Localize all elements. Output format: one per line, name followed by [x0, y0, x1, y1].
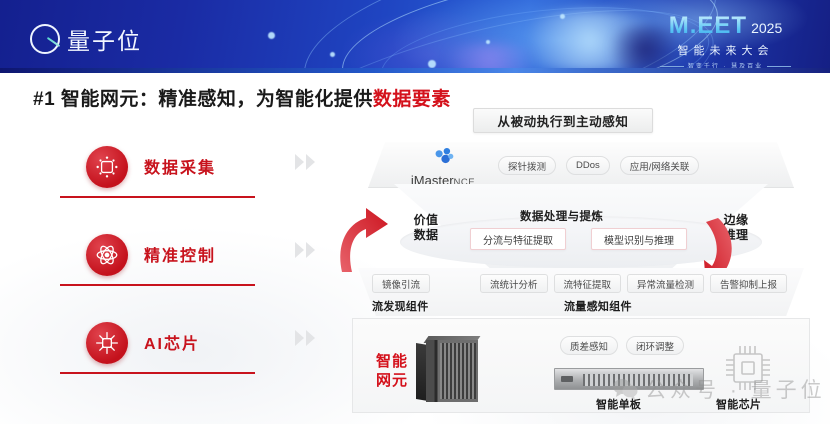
- group-label-flow-discovery: 流发现组件: [372, 298, 429, 314]
- banner-dot: [560, 14, 565, 19]
- banner-dot: [330, 52, 335, 57]
- bottom-pill-row: 质差感知 闭环调整: [560, 336, 684, 355]
- pill-ddos[interactable]: DDos: [566, 156, 610, 175]
- curved-arrow-up-icon: [332, 202, 394, 274]
- pill-alarm-suppression-report[interactable]: 告警抑制上报: [710, 274, 787, 293]
- double-chevron-right-icon: [293, 152, 319, 172]
- double-chevron-right-icon: [293, 328, 319, 348]
- banner-dot: [268, 32, 275, 39]
- event-year: 2025: [751, 20, 782, 36]
- left-item-ai-chip[interactable]: AI芯片: [60, 316, 310, 404]
- left-item-underline: [60, 196, 255, 198]
- architecture-diagram: 从被动执行到主动感知 iMasterNCE 探针拨测 DDos 应用/网络关联 …: [348, 108, 814, 413]
- banner-glow: [430, 44, 550, 73]
- pill-quality-degradation-awareness[interactable]: 质差感知: [560, 336, 618, 355]
- banner-dot: [486, 40, 490, 44]
- brand-name: 量子位: [67, 22, 142, 56]
- wechat-icon: [612, 378, 638, 400]
- label-intelligent-network-element: 智能 网元: [376, 352, 408, 390]
- event-subtitle: 智能未来大会: [643, 42, 808, 58]
- left-item-underline: [60, 284, 255, 286]
- event-word: M.EET: [669, 12, 747, 40]
- label-value-data-line2: 数据: [406, 228, 446, 243]
- watermark-text: 公众号 · 量子位: [645, 374, 826, 404]
- pill-closed-loop-adjustment[interactable]: 闭环调整: [626, 336, 684, 355]
- label-value-data-line1: 价值: [406, 213, 446, 228]
- imaster-pinwheel-icon: [430, 146, 456, 168]
- diagram-banner: 从被动执行到主动感知: [473, 108, 653, 133]
- event-tagline: 智变千行 · 慧及百业: [688, 64, 763, 70]
- watermark: 公众号 · 量子位: [612, 374, 826, 404]
- section-title-data-processing: 数据处理与提炼: [520, 208, 603, 224]
- left-item-precise-control[interactable]: 精准控制: [60, 228, 310, 316]
- pill-abnormal-traffic-detection[interactable]: 异常流量检测: [627, 274, 704, 293]
- pill-probe-test[interactable]: 探针拨测: [498, 156, 556, 175]
- label-value-data: 价值 数据: [406, 213, 446, 243]
- left-item-label: 数据采集: [144, 154, 216, 178]
- box-model-recognition-inference[interactable]: 模型识别与推理: [591, 228, 687, 250]
- page-title: #1 智能网元：精准感知，为智能化提供数据要素: [33, 84, 451, 111]
- pill-flow-feature-extraction[interactable]: 流特征提取: [554, 274, 622, 293]
- page-title-highlight: 数据要素: [373, 89, 451, 110]
- double-chevron-right-icon: [293, 240, 319, 260]
- imaster-nce-logo: iMasterNCE: [394, 146, 492, 188]
- pill-mirror-traffic[interactable]: 镜像引流: [372, 274, 430, 293]
- flow-discovery-pill-row: 镜像引流: [372, 274, 430, 293]
- atom-icon: [86, 234, 128, 276]
- label-ne-line1: 智能: [376, 352, 408, 371]
- label-ne-line2: 网元: [376, 371, 408, 390]
- server-chassis-icon: [416, 340, 478, 402]
- chip-dots-icon: [86, 146, 128, 188]
- chip-burst-icon: [86, 322, 128, 364]
- pill-flow-statistics[interactable]: 流统计分析: [480, 274, 548, 293]
- banner-dot: [428, 60, 436, 68]
- q-circle-icon: [30, 24, 60, 54]
- left-item-label: AI芯片: [144, 330, 200, 354]
- group-label-flow-awareness: 流量感知组件: [564, 298, 632, 314]
- brand-logo: 量子位: [30, 22, 142, 56]
- box-traffic-split-feature-extraction[interactable]: 分流与特征提取: [470, 228, 566, 250]
- event-tagline-wrap: 智变千行 · 慧及百业: [643, 61, 808, 70]
- top-layer-pill-row: 探针拨测 DDos 应用/网络关联: [498, 156, 699, 175]
- left-item-underline: [60, 372, 255, 374]
- left-column: 数据采集 精准控制: [60, 140, 310, 404]
- slide-root: 量子位 M.EET 2025 智能未来大会 智变千行 · 慧及百业 #1 智能网…: [0, 0, 830, 424]
- left-item-data-collection[interactable]: 数据采集: [60, 140, 310, 228]
- flow-awareness-pill-row: 流统计分析 流特征提取 异常流量检测 告警抑制上报: [480, 274, 787, 293]
- left-item-label: 精准控制: [144, 242, 216, 266]
- header-banner: 量子位 M.EET 2025 智能未来大会 智变千行 · 慧及百业: [0, 0, 830, 73]
- event-logo: M.EET 2025 智能未来大会 智变千行 · 慧及百业: [643, 12, 808, 70]
- pill-app-network-correlation[interactable]: 应用/网络关联: [620, 156, 700, 175]
- page-title-prefix: #1 智能网元：精准感知，为智能化提供: [33, 89, 373, 110]
